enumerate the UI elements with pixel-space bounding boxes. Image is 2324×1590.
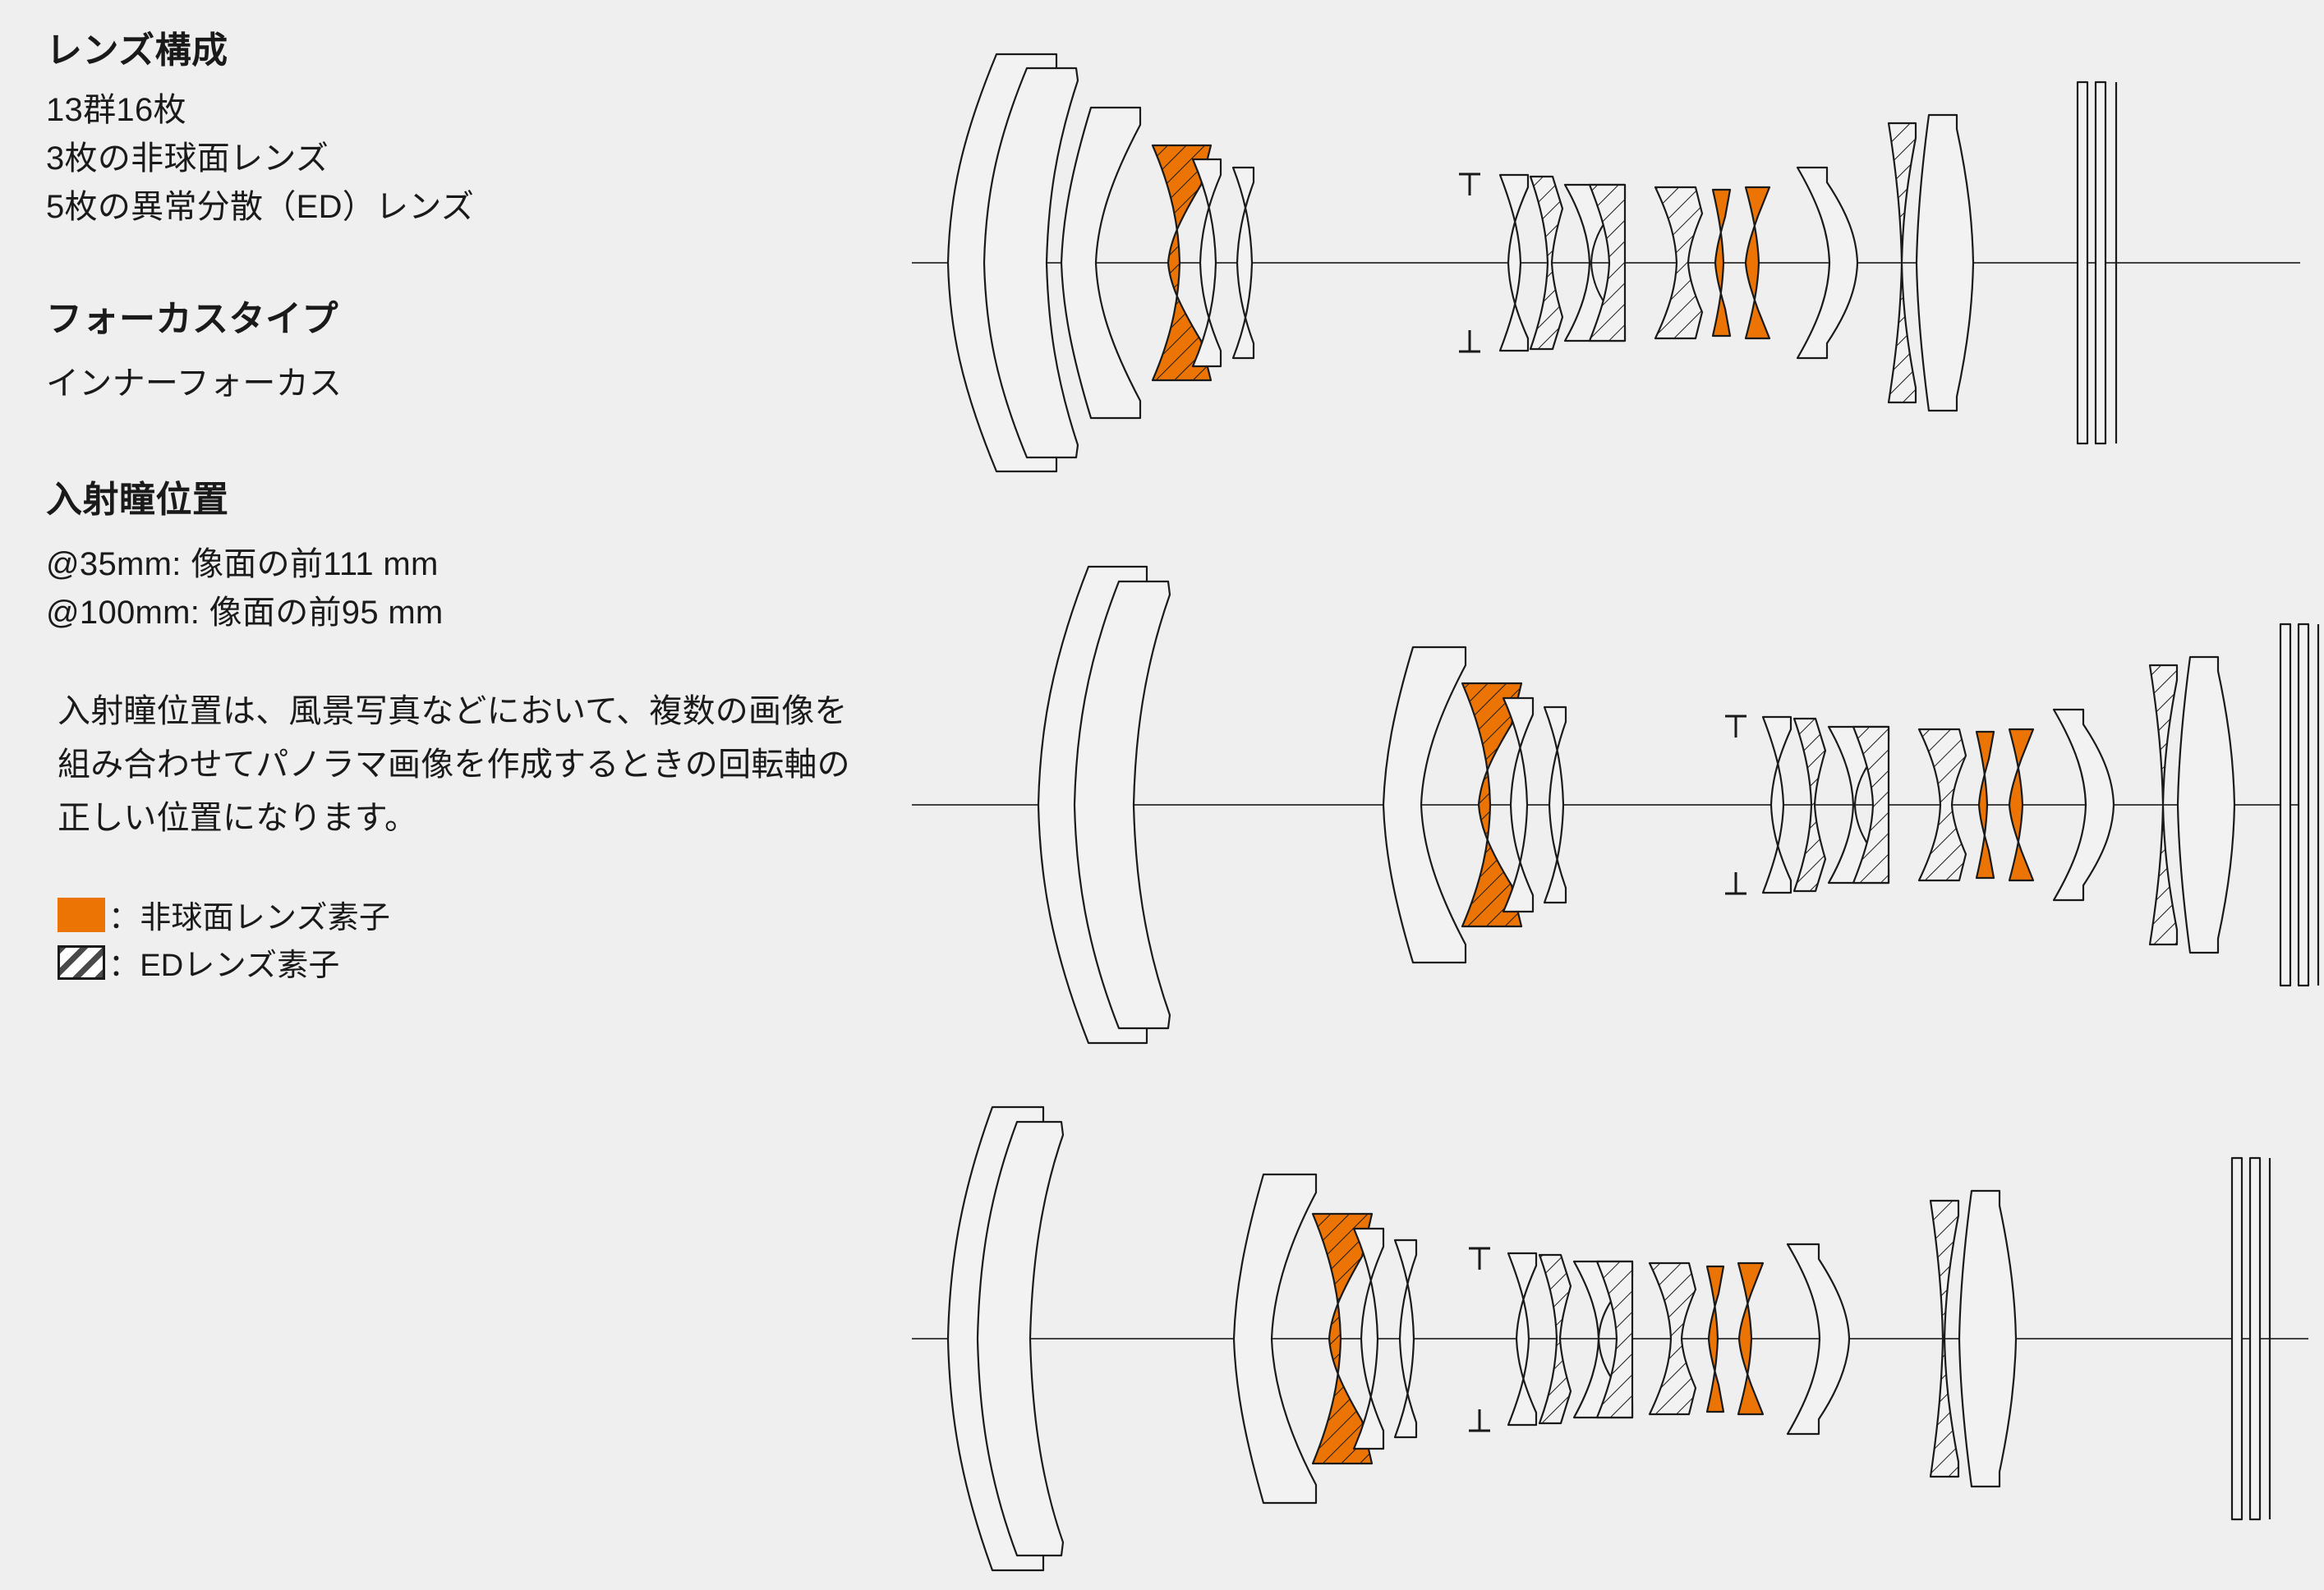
section-title-focus-type: フォーカスタイプ bbox=[46, 296, 969, 342]
filter-plate-2 bbox=[2250, 1158, 2260, 1519]
legend-item-ed: ：EDレンズ素子 bbox=[58, 939, 969, 986]
legend-label-aspherical: ：非球面レンズ素子 bbox=[108, 892, 390, 937]
focus-type-line-1: インナーフォーカス bbox=[46, 360, 969, 408]
spec-block-focus-type: フォーカスタイプ インナーフォーカス bbox=[46, 296, 969, 408]
filter-plate-2 bbox=[2096, 82, 2105, 443]
lens-diagram-tele-100mm bbox=[764, 1092, 2324, 1585]
spec-block-entrance-pupil: 入射瞳位置 @35mm: 像面の前111 mm @100mm: 像面の前95 m… bbox=[46, 477, 969, 637]
lens-element-16 bbox=[1917, 115, 1973, 411]
section-title-entrance-pupil: 入射瞳位置 bbox=[46, 477, 969, 522]
filter-plate-1 bbox=[2078, 82, 2087, 443]
entrance-pupil-line-1: @35mm: 像面の前111 mm bbox=[46, 540, 969, 589]
aspherical-swatch-icon bbox=[58, 898, 105, 932]
lens-diagram-panel bbox=[904, 0, 2324, 1590]
ed-swatch-icon bbox=[58, 945, 105, 980]
lens-construction-line-3: 5枚の異常分散（ED）レンズ bbox=[46, 183, 969, 232]
lens-diagram-mid bbox=[904, 542, 2324, 1051]
focus-type-lines: インナーフォーカス bbox=[46, 360, 969, 408]
filter-plate-1 bbox=[2280, 624, 2290, 986]
lens-element-16 bbox=[2178, 657, 2234, 953]
lens-element-16 bbox=[1959, 1191, 2016, 1487]
entrance-pupil-lines: @35mm: 像面の前111 mm @100mm: 像面の前95 mm bbox=[46, 540, 969, 637]
entrance-pupil-line-2: @100mm: 像面の前95 mm bbox=[46, 589, 969, 637]
lens-diagram-wide-35mm bbox=[904, 0, 2324, 509]
lens-construction-lines: 13群16枚 3枚の非球面レンズ 5枚の異常分散（ED）レンズ bbox=[46, 86, 969, 232]
legend-item-aspherical: ：非球面レンズ素子 bbox=[58, 891, 969, 939]
section-title-lens-construction: レンズ構成 bbox=[46, 28, 969, 73]
spec-block-lens-construction: レンズ構成 13群16枚 3枚の非球面レンズ 5枚の異常分散（ED）レンズ bbox=[46, 28, 969, 232]
entrance-pupil-note: 入射瞳位置は、風景写真などにおいて、複数の画像を組み合わせてパノラマ画像を作成す… bbox=[46, 685, 879, 844]
filter-plate-1 bbox=[2232, 1158, 2242, 1519]
legend: ：非球面レンズ素子 ：EDレンズ素子 bbox=[46, 891, 969, 986]
lens-construction-line-1: 13群16枚 bbox=[46, 86, 969, 135]
filter-plate-2 bbox=[2299, 624, 2308, 986]
lens-construction-line-2: 3枚の非球面レンズ bbox=[46, 135, 969, 183]
legend-label-ed: ：EDレンズ素子 bbox=[108, 940, 340, 985]
